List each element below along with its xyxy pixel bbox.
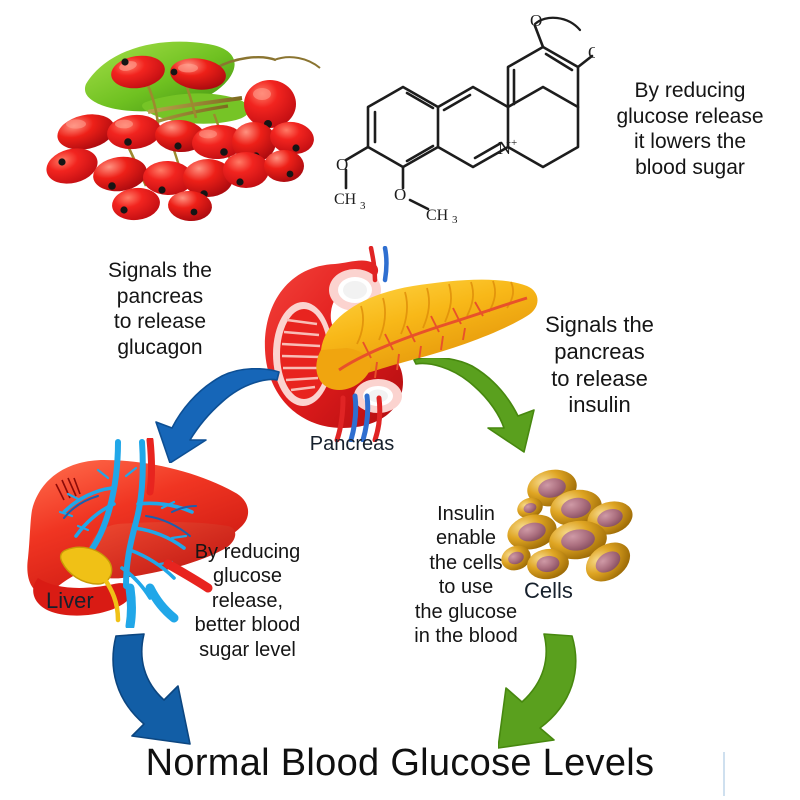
atom-label-o-lower: O	[394, 185, 406, 204]
arrow-cells-to-result-svg	[498, 628, 663, 750]
berberine-skeletal-svg: O O O O N + CH 3 CH 3	[330, 8, 595, 223]
arrow-liver-to-result-svg	[100, 628, 245, 750]
liver-label: Liver	[46, 588, 156, 615]
berberine-structure: O O O O N + CH 3 CH 3	[330, 8, 595, 223]
arrow-liver-to-result	[100, 628, 245, 750]
atom-label-n: N	[498, 138, 511, 158]
barberry-cluster-photo	[28, 14, 328, 224]
arrow-cells-to-result	[498, 628, 663, 750]
atom-label-ch3-left: CH	[334, 191, 357, 208]
atom-label-ch3-right: CH	[426, 207, 449, 223]
pancreas-label: Pancreas	[272, 432, 432, 456]
top-caption-text: By reducing glucose release it lowers th…	[585, 78, 795, 180]
arrow-pancreas-to-cells	[412, 358, 537, 453]
edge-artifact-line	[723, 752, 725, 796]
atom-label-o-top: O	[530, 11, 542, 30]
page-title: Normal Blood Glucose Levels	[0, 742, 800, 785]
barberry-cluster-svg	[28, 14, 328, 224]
arrow-pancreas-to-cells-svg	[412, 358, 537, 453]
glucagon-caption-text: Signals the pancreas to release glucagon	[62, 258, 258, 360]
atom-label-o-left: O	[336, 155, 348, 174]
atom-label-ch3-right-sub: 3	[452, 214, 458, 223]
atom-label-n-charge: +	[511, 137, 517, 149]
cells-caption-text: Insulin enable the cells to use the gluc…	[390, 502, 542, 648]
atom-label-o-right: O	[588, 43, 595, 62]
atom-label-ch3-left-sub: 3	[360, 200, 366, 212]
